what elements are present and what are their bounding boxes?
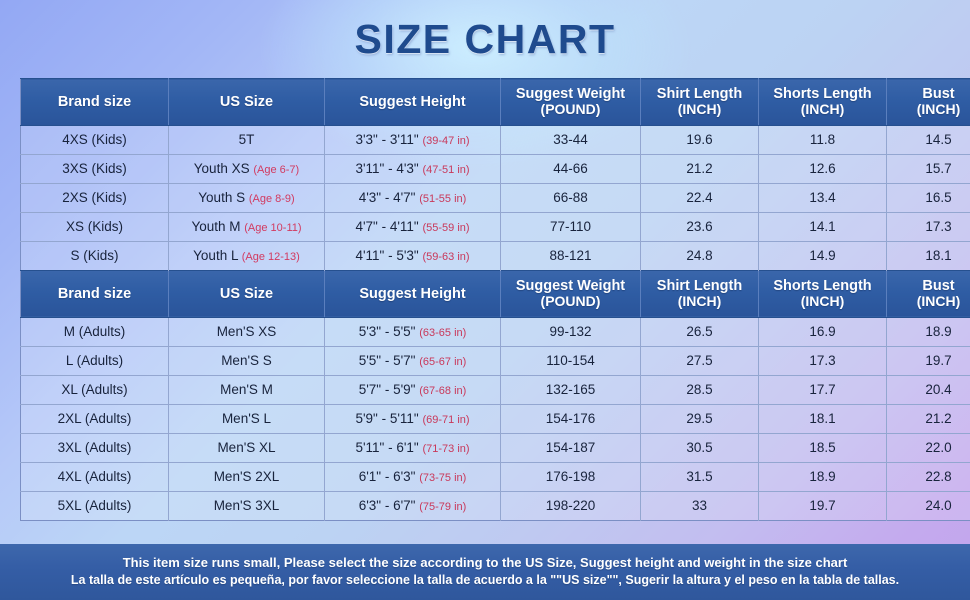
cell-brand-size-value: 2XS (Kids): [62, 190, 127, 205]
table-row: XS (Kids)Youth M (Age 10-11)4'7" - 4'11"…: [21, 212, 970, 241]
cell-suggest-weight-value: 176-198: [546, 469, 596, 484]
cell-shorts-length: 14.9: [759, 241, 887, 270]
cell-bust-value: 19.7: [925, 353, 951, 368]
cell-suggest-weight-value: 99-132: [549, 324, 591, 339]
cell-suggest-height: 5'7" - 5'9" (67-68 in): [325, 375, 501, 404]
cell-brand-size-value: 2XL (Adults): [58, 411, 132, 426]
header-bust-label: Bust: [922, 86, 954, 102]
header2-suggest-height: Suggest Height: [325, 270, 501, 317]
cell-brand-size: 3XS (Kids): [21, 154, 169, 183]
cell-shorts-length-value: 14.1: [809, 219, 835, 234]
cell-suggest-height-value: 4'3" - 4'7": [359, 190, 416, 205]
cell-shorts-length: 14.1: [759, 212, 887, 241]
cell-shirt-length: 27.5: [641, 346, 759, 375]
cell-us-size-sub: (Age 12-13): [242, 251, 300, 263]
header-bust: Bust (INCH): [887, 79, 970, 126]
cell-suggest-weight: 198-220: [501, 491, 641, 520]
cell-shirt-length-value: 28.5: [686, 382, 712, 397]
header2-bust: Bust (INCH): [887, 270, 970, 317]
header-row-kids: Brand size US Size Suggest Height Sugges…: [21, 79, 970, 126]
header-bust-unit: (INCH): [889, 102, 970, 118]
table-row: 2XL (Adults)Men'S L5'9" - 5'11" (69-71 i…: [21, 404, 970, 433]
cell-bust: 14.5: [887, 125, 970, 154]
cell-suggest-weight-value: 132-165: [546, 382, 596, 397]
cell-bust-value: 14.5: [925, 132, 951, 147]
cell-suggest-weight: 33-44: [501, 125, 641, 154]
cell-suggest-height-sub: (39-47 in): [422, 135, 469, 147]
cell-suggest-height-sub: (63-65 in): [419, 327, 466, 339]
header-brand-size: Brand size: [21, 79, 169, 126]
cell-shorts-length-value: 14.9: [809, 248, 835, 263]
cell-us-size: Men'S M: [169, 375, 325, 404]
cell-suggest-height: 4'11" - 5'3" (59-63 in): [325, 241, 501, 270]
cell-shirt-length: 21.2: [641, 154, 759, 183]
header-brand-size-label: Brand size: [58, 94, 131, 110]
cell-shorts-length: 18.1: [759, 404, 887, 433]
cell-brand-size-value: 3XL (Adults): [58, 440, 132, 455]
cell-bust: 19.7: [887, 346, 970, 375]
cell-suggest-height-sub: (69-71 in): [422, 414, 469, 426]
cell-us-size: Men'S 3XL: [169, 491, 325, 520]
cell-us-size-value: Men'S 3XL: [214, 498, 280, 513]
cell-bust-value: 21.2: [925, 411, 951, 426]
cell-us-size-value: Men'S XS: [217, 324, 277, 339]
cell-shirt-length: 22.4: [641, 183, 759, 212]
header-suggest-weight-label: Suggest Weight: [516, 86, 625, 102]
header2-shorts-length-unit: (INCH): [761, 294, 884, 310]
cell-us-size-value: Men'S L: [222, 411, 271, 426]
table-row: 3XL (Adults)Men'S XL5'11" - 6'1" (71-73 …: [21, 433, 970, 462]
cell-brand-size: S (Kids): [21, 241, 169, 270]
adults-table-header: Brand size US Size Suggest Height Sugges…: [21, 270, 970, 317]
cell-suggest-weight-value: 110-154: [546, 353, 595, 368]
cell-brand-size-value: M (Adults): [64, 324, 126, 339]
cell-bust-value: 15.7: [925, 161, 951, 176]
footer-note-banner: This item size runs small, Please select…: [0, 544, 970, 600]
cell-shorts-length: 17.3: [759, 346, 887, 375]
footer-note-english: This item size runs small, Please select…: [123, 556, 848, 570]
header-us-size: US Size: [169, 79, 325, 126]
cell-brand-size-value: 5XL (Adults): [58, 498, 132, 513]
cell-shorts-length-value: 11.8: [810, 132, 835, 147]
table-row: M (Adults)Men'S XS5'3" - 5'5" (63-65 in)…: [21, 317, 970, 346]
cell-suggest-weight: 132-165: [501, 375, 641, 404]
cell-us-size: Men'S 2XL: [169, 462, 325, 491]
cell-bust: 18.1: [887, 241, 970, 270]
header-us-size-label: US Size: [220, 94, 273, 110]
kids-table-header: Brand size US Size Suggest Height Sugges…: [21, 79, 970, 126]
header-shirt-length: Shirt Length (INCH): [641, 79, 759, 126]
header2-suggest-weight-unit: (POUND): [503, 294, 638, 310]
cell-suggest-height-sub: (65-67 in): [419, 356, 466, 368]
cell-brand-size: 3XL (Adults): [21, 433, 169, 462]
cell-shirt-length-value: 22.4: [686, 190, 712, 205]
kids-rows: 4XS (Kids)5T3'3" - 3'11" (39-47 in)33-44…: [21, 125, 970, 270]
cell-shorts-length: 18.5: [759, 433, 887, 462]
cell-suggest-height: 6'3" - 6'7" (75-79 in): [325, 491, 501, 520]
cell-shirt-length: 30.5: [641, 433, 759, 462]
header2-brand-size-label: Brand size: [58, 286, 131, 302]
cell-suggest-height-value: 5'5" - 5'7": [359, 353, 416, 368]
cell-bust-value: 18.1: [925, 248, 951, 263]
cell-shorts-length-value: 17.3: [809, 353, 835, 368]
cell-suggest-height-sub: (73-75 in): [419, 472, 466, 484]
table-row: S (Kids)Youth L (Age 12-13)4'11" - 5'3" …: [21, 241, 970, 270]
header-shorts-length-unit: (INCH): [761, 102, 884, 118]
cell-shorts-length-value: 12.6: [809, 161, 835, 176]
cell-suggest-weight: 99-132: [501, 317, 641, 346]
cell-suggest-weight: 66-88: [501, 183, 641, 212]
cell-bust: 20.4: [887, 375, 970, 404]
cell-shirt-length: 28.5: [641, 375, 759, 404]
cell-bust: 18.9: [887, 317, 970, 346]
cell-us-size: Men'S S: [169, 346, 325, 375]
cell-suggest-height: 6'1" - 6'3" (73-75 in): [325, 462, 501, 491]
cell-shirt-length-value: 29.5: [686, 411, 712, 426]
cell-us-size: Youth M (Age 10-11): [169, 212, 325, 241]
cell-shorts-length-value: 18.1: [809, 411, 835, 426]
header-suggest-height-label: Suggest Height: [359, 94, 465, 110]
title-banner: SIZE CHART: [0, 0, 970, 78]
cell-suggest-height-sub: (75-79 in): [419, 501, 466, 513]
cell-suggest-height-value: 6'1" - 6'3": [359, 469, 416, 484]
cell-shorts-length-value: 18.9: [809, 469, 835, 484]
header2-bust-label: Bust: [922, 278, 954, 294]
cell-bust-value: 24.0: [925, 498, 951, 513]
header2-shirt-length-unit: (INCH): [643, 294, 756, 310]
cell-shorts-length-value: 16.9: [809, 324, 835, 339]
cell-brand-size-value: 3XS (Kids): [62, 161, 127, 176]
cell-brand-size: 2XS (Kids): [21, 183, 169, 212]
cell-bust-value: 20.4: [925, 382, 951, 397]
header2-us-size: US Size: [169, 270, 325, 317]
cell-suggest-height-value: 5'9" - 5'11": [355, 411, 418, 426]
cell-suggest-weight-value: 154-176: [546, 411, 596, 426]
cell-shirt-length: 19.6: [641, 125, 759, 154]
header-suggest-weight-unit: (POUND): [503, 102, 638, 118]
header2-us-size-label: US Size: [220, 286, 273, 302]
page-title: SIZE CHART: [355, 16, 616, 63]
table-row: 5XL (Adults)Men'S 3XL6'3" - 6'7" (75-79 …: [21, 491, 970, 520]
cell-brand-size: 2XL (Adults): [21, 404, 169, 433]
cell-suggest-height-value: 5'7" - 5'9": [359, 382, 416, 397]
header-shirt-length-unit: (INCH): [643, 102, 756, 118]
cell-suggest-height: 5'9" - 5'11" (69-71 in): [325, 404, 501, 433]
cell-us-size-value: Youth XS: [194, 161, 250, 176]
cell-brand-size: 4XL (Adults): [21, 462, 169, 491]
cell-suggest-height-value: 6'3" - 6'7": [359, 498, 416, 513]
cell-us-size-value: Men'S S: [221, 353, 272, 368]
adults-rows: M (Adults)Men'S XS5'3" - 5'5" (63-65 in)…: [21, 317, 970, 520]
cell-shirt-length: 33: [641, 491, 759, 520]
cell-suggest-weight: 110-154: [501, 346, 641, 375]
cell-suggest-height-sub: (59-63 in): [422, 251, 469, 263]
table-row: 4XL (Adults)Men'S 2XL6'1" - 6'3" (73-75 …: [21, 462, 970, 491]
cell-brand-size-value: S (Kids): [70, 248, 118, 263]
cell-bust: 16.5: [887, 183, 970, 212]
cell-shirt-length-value: 33: [692, 498, 707, 513]
cell-brand-size-value: XS (Kids): [66, 219, 123, 234]
cell-suggest-weight: 154-187: [501, 433, 641, 462]
header-shorts-length: Shorts Length (INCH): [759, 79, 887, 126]
cell-shorts-length: 19.7: [759, 491, 887, 520]
cell-us-size: Men'S XL: [169, 433, 325, 462]
table-row: 4XS (Kids)5T3'3" - 3'11" (39-47 in)33-44…: [21, 125, 970, 154]
cell-us-size-value: Youth S: [198, 190, 245, 205]
cell-shirt-length-value: 27.5: [686, 353, 712, 368]
cell-suggest-weight: 88-121: [501, 241, 641, 270]
cell-us-size-value: Men'S XL: [217, 440, 275, 455]
cell-shorts-length: 13.4: [759, 183, 887, 212]
cell-shirt-length-value: 23.6: [686, 219, 712, 234]
header2-shirt-length-label: Shirt Length: [657, 278, 742, 294]
cell-bust-value: 22.0: [925, 440, 951, 455]
cell-bust-value: 17.3: [925, 219, 951, 234]
table-row: 2XS (Kids)Youth S (Age 8-9)4'3" - 4'7" (…: [21, 183, 970, 212]
header-shirt-length-label: Shirt Length: [657, 86, 742, 102]
header2-bust-unit: (INCH): [889, 294, 970, 310]
table-row: XL (Adults)Men'S M5'7" - 5'9" (67-68 in)…: [21, 375, 970, 404]
cell-suggest-weight-value: 88-121: [549, 248, 591, 263]
cell-us-size-value: 5T: [239, 132, 255, 147]
cell-brand-size-value: 4XS (Kids): [62, 132, 127, 147]
cell-suggest-height-sub: (47-51 in): [422, 164, 469, 176]
cell-suggest-height: 4'3" - 4'7" (51-55 in): [325, 183, 501, 212]
cell-suggest-weight-value: 44-66: [553, 161, 588, 176]
cell-bust: 15.7: [887, 154, 970, 183]
cell-suggest-weight-value: 198-220: [546, 498, 596, 513]
header2-suggest-weight: Suggest Weight (POUND): [501, 270, 641, 317]
cell-suggest-weight: 176-198: [501, 462, 641, 491]
cell-suggest-height-value: 3'3" - 3'11": [355, 132, 418, 147]
cell-shorts-length-value: 17.7: [809, 382, 835, 397]
cell-bust-value: 16.5: [925, 190, 951, 205]
cell-brand-size: M (Adults): [21, 317, 169, 346]
header2-shorts-length-label: Shorts Length: [773, 278, 871, 294]
cell-shorts-length: 18.9: [759, 462, 887, 491]
cell-bust: 17.3: [887, 212, 970, 241]
header2-brand-size: Brand size: [21, 270, 169, 317]
cell-suggest-weight: 44-66: [501, 154, 641, 183]
cell-us-size-value: Men'S M: [220, 382, 273, 397]
cell-shirt-length-value: 19.6: [686, 132, 712, 147]
cell-bust: 22.0: [887, 433, 970, 462]
cell-shirt-length-value: 31.5: [686, 469, 712, 484]
cell-suggest-weight-value: 77-110: [550, 219, 591, 234]
table-row: L (Adults)Men'S S5'5" - 5'7" (65-67 in)1…: [21, 346, 970, 375]
cell-bust-value: 18.9: [925, 324, 951, 339]
cell-shirt-length-value: 26.5: [686, 324, 712, 339]
cell-us-size-sub: (Age 6-7): [253, 164, 299, 176]
cell-shirt-length-value: 30.5: [686, 440, 712, 455]
header-suggest-height: Suggest Height: [325, 79, 501, 126]
cell-us-size-sub: (Age 8-9): [249, 193, 295, 205]
size-chart-table: Brand size US Size Suggest Height Sugges…: [20, 78, 970, 521]
cell-suggest-height: 5'11" - 6'1" (71-73 in): [325, 433, 501, 462]
cell-shorts-length: 11.8: [759, 125, 887, 154]
cell-us-size: Men'S L: [169, 404, 325, 433]
cell-brand-size-value: L (Adults): [66, 353, 123, 368]
cell-shirt-length-value: 24.8: [686, 248, 712, 263]
cell-suggest-height: 5'3" - 5'5" (63-65 in): [325, 317, 501, 346]
cell-brand-size: 4XS (Kids): [21, 125, 169, 154]
cell-brand-size: 5XL (Adults): [21, 491, 169, 520]
cell-suggest-height-sub: (71-73 in): [422, 443, 469, 455]
cell-suggest-weight: 154-176: [501, 404, 641, 433]
cell-us-size: Youth XS (Age 6-7): [169, 154, 325, 183]
footer-note-spanish: La talla de este artículo es pequeña, po…: [71, 574, 899, 588]
cell-suggest-height: 3'11" - 4'3" (47-51 in): [325, 154, 501, 183]
cell-shorts-length: 17.7: [759, 375, 887, 404]
cell-us-size-value: Youth M: [191, 219, 240, 234]
header2-suggest-weight-label: Suggest Weight: [516, 278, 625, 294]
cell-brand-size-value: XL (Adults): [61, 382, 127, 397]
cell-suggest-weight-value: 33-44: [553, 132, 588, 147]
size-chart-area: Brand size US Size Suggest Height Sugges…: [20, 78, 950, 521]
cell-suggest-height: 3'3" - 3'11" (39-47 in): [325, 125, 501, 154]
cell-suggest-height: 4'7" - 4'11" (55-59 in): [325, 212, 501, 241]
cell-bust-value: 22.8: [925, 469, 951, 484]
cell-suggest-height-value: 5'3" - 5'5": [359, 324, 416, 339]
cell-shirt-length: 31.5: [641, 462, 759, 491]
header-row-adults: Brand size US Size Suggest Height Sugges…: [21, 270, 970, 317]
header-shorts-length-label: Shorts Length: [773, 86, 871, 102]
cell-suggest-height-value: 4'11" - 5'3": [355, 248, 418, 263]
cell-us-size: Youth L (Age 12-13): [169, 241, 325, 270]
cell-us-size-value: Men'S 2XL: [214, 469, 280, 484]
cell-bust: 21.2: [887, 404, 970, 433]
cell-suggest-height: 5'5" - 5'7" (65-67 in): [325, 346, 501, 375]
cell-suggest-height-value: 5'11" - 6'1": [355, 440, 418, 455]
cell-brand-size: XL (Adults): [21, 375, 169, 404]
cell-shorts-length: 16.9: [759, 317, 887, 346]
cell-bust: 22.8: [887, 462, 970, 491]
cell-shirt-length: 24.8: [641, 241, 759, 270]
cell-suggest-height-sub: (55-59 in): [422, 222, 469, 234]
header2-shorts-length: Shorts Length (INCH): [759, 270, 887, 317]
cell-shirt-length: 29.5: [641, 404, 759, 433]
cell-suggest-height-sub: (51-55 in): [419, 193, 466, 205]
cell-brand-size: L (Adults): [21, 346, 169, 375]
cell-shorts-length-value: 19.7: [809, 498, 835, 513]
cell-suggest-weight-value: 154-187: [546, 440, 596, 455]
cell-shirt-length: 26.5: [641, 317, 759, 346]
cell-shorts-length-value: 13.4: [809, 190, 835, 205]
cell-bust: 24.0: [887, 491, 970, 520]
cell-us-size: Youth S (Age 8-9): [169, 183, 325, 212]
cell-shirt-length-value: 21.2: [686, 161, 712, 176]
cell-suggest-height-sub: (67-68 in): [419, 385, 466, 397]
cell-us-size-sub: (Age 10-11): [244, 222, 301, 234]
cell-suggest-height-value: 3'11" - 4'3": [355, 161, 418, 176]
cell-us-size-value: Youth L: [193, 248, 238, 263]
header2-suggest-height-label: Suggest Height: [359, 286, 465, 302]
cell-shorts-length: 12.6: [759, 154, 887, 183]
cell-suggest-weight: 77-110: [501, 212, 641, 241]
cell-us-size: 5T: [169, 125, 325, 154]
cell-suggest-weight-value: 66-88: [553, 190, 588, 205]
cell-us-size: Men'S XS: [169, 317, 325, 346]
table-row: 3XS (Kids)Youth XS (Age 6-7)3'11" - 4'3"…: [21, 154, 970, 183]
cell-shirt-length: 23.6: [641, 212, 759, 241]
header2-shirt-length: Shirt Length (INCH): [641, 270, 759, 317]
cell-suggest-height-value: 4'7" - 4'11": [355, 219, 418, 234]
cell-brand-size: XS (Kids): [21, 212, 169, 241]
cell-brand-size-value: 4XL (Adults): [58, 469, 132, 484]
cell-shorts-length-value: 18.5: [809, 440, 835, 455]
header-suggest-weight: Suggest Weight (POUND): [501, 79, 641, 126]
